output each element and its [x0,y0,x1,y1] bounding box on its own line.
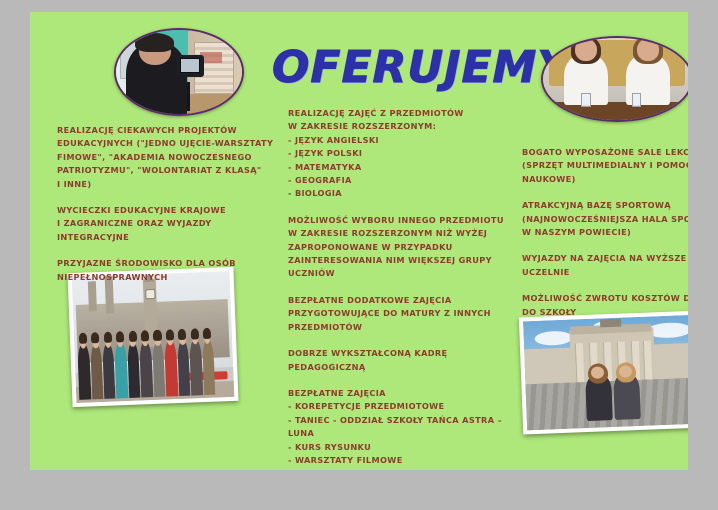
offer-item-line: - TANIEC - ODDZIAŁ SZKOŁY TAŃCA ASTRA – [288,414,498,427]
offer-item-line: (SPRZĘT MULTIMEDIALNY I POMOCE [522,159,688,172]
offer-item-line: - KOREPETYCJE PRZEDMIOTOWE [288,400,498,413]
offer-list-middle-column: REALIZACJĘ ZAJĘĆ Z PRZEDMIOTÓWW ZAKRESIE… [288,107,498,470]
offer-item-line: I ZAGRANICZNE ORAZ WYJAZDY [57,217,262,230]
offer-item-line: PATRIOTYZMU", "WOLONTARIAT Z KLASĄ" [57,164,262,177]
offer-item-line: DO SZKOŁY [522,306,688,319]
offer-item-line: - KOŁO FOTOGRAFICZNE [288,467,498,470]
offer-item-line: - JĘZYK POLSKI [288,147,498,160]
offer-item-line: W NASZYM POWIECIE) [522,226,688,239]
offer-list-right-column: BOGATO WYPOSAŻONE SALE LEKCYJNE(SPRZĘT M… [522,146,688,319]
page-title: OFERUJEMY [272,42,570,93]
students-in-lab-coats-photo [541,36,688,122]
offer-item-line: MOŻLIWOŚĆ ZWROTU KOSZTÓW DOJAZDU [522,292,688,305]
offer-item-line: PRZYJAZNE ŚRODOWISKO DLA OSÓB [57,257,262,270]
offer-item-line: ATRAKCYJNĄ BAZĘ SPORTOWĄ [522,199,688,212]
offer-item-line: W ZAKRESIE ROZSZERZONYM: [288,120,498,133]
offer-item: MOŻLIWOŚĆ ZWROTU KOSZTÓW DOJAZDUDO SZKOŁ… [522,292,688,319]
offer-item-line: ZAINTERESOWANIA NIM WIĘKSZEJ GRUPY [288,254,498,267]
offer-list-left-column: REALIZACJĘ CIEKAWYCH PROJEKTÓWEDUKACYJNY… [57,124,262,284]
offer-item-line: - JĘZYK ANGIELSKI [288,134,498,147]
offer-item-line: BEZPŁATNE DODATKOWE ZAJĘCIA [288,294,498,307]
offer-item: BOGATO WYPOSAŻONE SALE LEKCYJNE(SPRZĘT M… [522,146,688,186]
offer-item-line: BEZPŁATNE ZAJĘCIA [288,387,498,400]
offer-item-line: UCZNIÓW [288,267,498,280]
offer-item-line: REALIZACJĘ ZAJĘĆ Z PRZEDMIOTÓW [288,107,498,120]
offer-item: MOŻLIWOŚĆ WYBORU INNEGO PRZEDMIOTUW ZAKR… [288,214,498,281]
offer-item-line: REALIZACJĘ CIEKAWYCH PROJEKTÓW [57,124,262,137]
offer-item-line: WYJAZDY NA ZAJĘCIA NA WYŻSZE [522,252,688,265]
offer-item-line: - KURS RYSUNKU [288,441,498,454]
offer-item: DOBRZE WYKSZTAŁCONĄ KADRĘPEDAGOGICZNĄ [288,347,498,374]
presentation-slide: OFERUJEMY [0,0,718,510]
offer-item-line: WYCIECZKI EDUKACYJNE KRAJOWE [57,204,262,217]
student-with-camera-photo [114,28,244,116]
offer-item: ATRAKCYJNĄ BAZĘ SPORTOWĄ(NAJNOWOCZEŚNIEJ… [522,199,688,239]
offer-item-line: ZAPROPONOWANE W PRZYPADKU [288,241,498,254]
offer-item-line: UCZELNIE [522,266,688,279]
offer-item-line: DOBRZE WYKSZTAŁCONĄ KADRĘ [288,347,498,360]
offer-item-line: INTEGRACYJNE [57,231,262,244]
offer-item: WYJAZDY NA ZAJĘCIA NA WYŻSZEUCZELNIE [522,252,688,279]
offer-item-line: - MATEMATYKA [288,161,498,174]
offer-item-line: MOŻLIWOŚĆ WYBORU INNEGO PRZEDMIOTU [288,214,498,227]
offer-item-line: PEDAGOGICZNĄ [288,361,498,374]
offer-item-line: - BIOLOGIA [288,187,498,200]
offer-item-line: W ZAKRESIE ROZSZERZONYM NIŻ WYŻEJ [288,227,498,240]
offer-item-line: NIEPEŁNOSPRAWNYCH [57,271,262,284]
offer-item-line: I INNE) [57,178,262,191]
offer-item: REALIZACJĘ ZAJĘĆ Z PRZEDMIOTÓWW ZAKRESIE… [288,107,498,201]
offer-item-line: - WARSZTATY FILMOWE [288,454,498,467]
offer-item: BEZPŁATNE DODATKOWE ZAJĘCIAPRZYGOTOWUJĄC… [288,294,498,334]
offer-item: WYCIECZKI EDUKACYJNE KRAJOWEI ZAGRANICZN… [57,204,262,244]
offer-item-line: - GEOGRAFIA [288,174,498,187]
offer-item-line: FIMOWE", "AKADEMIA NOWOCZESNEGO [57,151,262,164]
offer-item-line: LUNA [288,427,498,440]
offer-item: BEZPŁATNE ZAJĘCIA- KOREPETYCJE PRZEDMIOT… [288,387,498,470]
offer-item-line: (NAJNOWOCZEŚNIEJSZA HALA SPORTOWA [522,213,688,226]
slide-page: OFERUJEMY [30,12,688,470]
offer-item-line: PRZYGOTOWUJĄCE DO MATURY Z INNYCH [288,307,498,320]
offer-item-line: NAUKOWE) [522,173,688,186]
offer-item-line: EDUKACYJNYCH ("JEDNO UJĘCIE-WARSZTATY [57,137,262,150]
offer-item-line: BOGATO WYPOSAŻONE SALE LEKCYJNE [522,146,688,159]
school-trip-london-big-ben-photo [67,267,238,407]
school-trip-berlin-brandenburg-gate-photo [519,311,688,435]
offer-item: PRZYJAZNE ŚRODOWISKO DLA OSÓBNIEPEŁNOSPR… [57,257,262,284]
offer-item-line: PRZEDMIOTÓW [288,321,498,334]
offer-item: REALIZACJĘ CIEKAWYCH PROJEKTÓWEDUKACYJNY… [57,124,262,191]
